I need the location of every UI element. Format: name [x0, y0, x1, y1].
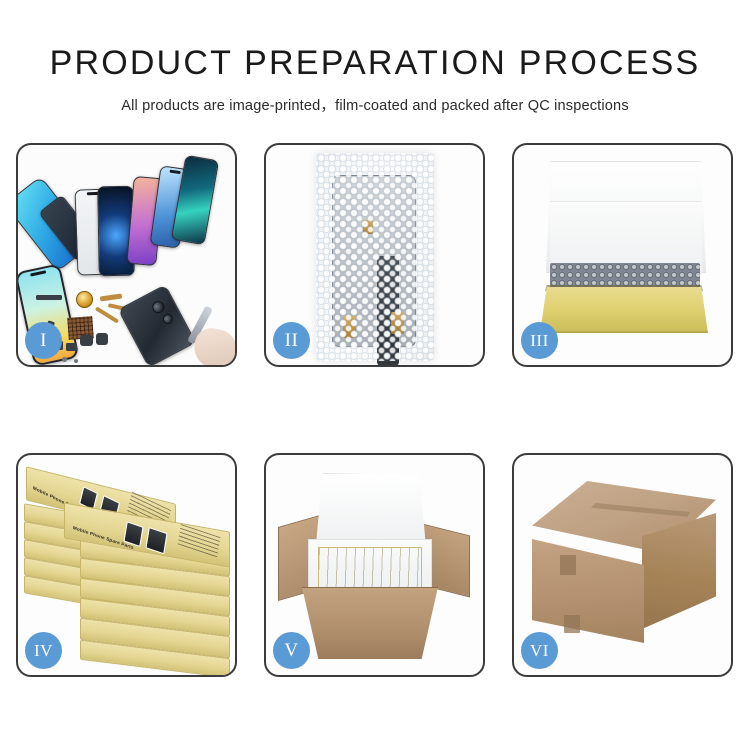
step-panel-4: Mobile Phone Spare Parts Mobile Phone Sp… [16, 453, 237, 677]
step-badge-6: VI [521, 632, 558, 669]
part-strip [36, 295, 62, 300]
part-bracket [80, 335, 93, 346]
styrofoam-lid [316, 473, 426, 547]
camera-lens-icon [161, 312, 175, 326]
box-window-screen [145, 527, 167, 554]
step-panel-3: III [512, 143, 733, 367]
flex-cable-long [95, 306, 119, 323]
step-panel-6: VI [512, 453, 733, 677]
header: PRODUCT PREPARATION PROCESS All products… [0, 0, 750, 115]
bubble-wrap-bag [316, 153, 434, 361]
step-badge-1: I [25, 322, 62, 359]
part-screw-small [74, 359, 78, 363]
step-badge-2: II [273, 322, 310, 359]
kraft-inner-box [540, 287, 708, 333]
step-panel-1: I [16, 143, 237, 367]
notch-icon [169, 170, 180, 174]
step-badge-3: III [521, 322, 558, 359]
kraft-boxes-inside [318, 547, 422, 591]
page-subtitle: All products are image-printed，film-coat… [0, 94, 750, 115]
step-panel-5: V [264, 453, 485, 677]
carton-tape-upper [560, 555, 576, 575]
box-print-spec-lines [178, 524, 221, 558]
part-camera-module [96, 333, 108, 345]
camera-lens-icon [150, 299, 166, 315]
process-step-grid: I II [16, 143, 734, 677]
step-badge-4: IV [25, 632, 62, 669]
flex-cable [100, 293, 122, 301]
part-chip [66, 343, 77, 351]
bubble-texture [316, 153, 434, 361]
notch-icon [30, 270, 46, 276]
carton-front-face [532, 539, 644, 643]
carton-tape-lower [564, 615, 580, 633]
step-panel-2: II [264, 143, 485, 367]
phone-back-housing [118, 284, 197, 365]
part-screw-small [62, 357, 67, 362]
cardboard-carton-body [302, 587, 438, 659]
page-title: PRODUCT PREPARATION PROCESS [0, 44, 750, 83]
step-badge-5: V [273, 632, 310, 669]
product-preparation-infographic: PRODUCT PREPARATION PROCESS All products… [0, 0, 750, 750]
speaker-coil-part [76, 291, 93, 308]
